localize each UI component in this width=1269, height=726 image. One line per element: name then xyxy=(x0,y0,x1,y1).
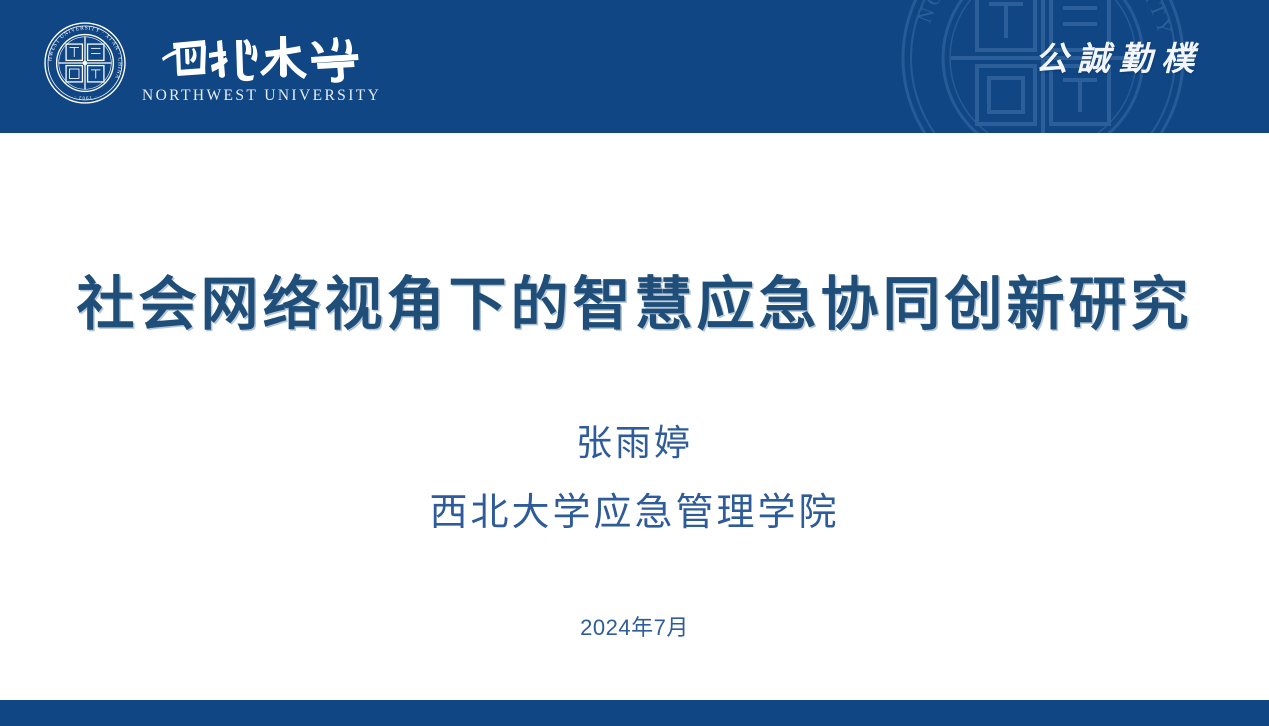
author-affiliation: 西北大学应急管理学院 xyxy=(0,493,1269,535)
logo-english-name: NORTHWEST UNIVERSITY xyxy=(142,88,381,104)
svg-text:NORTHWEST UNIVERSITY: NORTHWEST UNIVERSITY xyxy=(914,0,1177,40)
northwest-university-seal-icon: NORTHWEST UNIVERSITY · XI'AN · CHINA · 1… xyxy=(42,20,128,106)
header-band: NORTHWEST UNIVERSITY · 1902 · xyxy=(0,0,1269,133)
university-logo-lockup: NORTHWEST UNIVERSITY · XI'AN · CHINA · 1… xyxy=(42,20,381,106)
presentation-title: 社会网络视角下的智慧应急协同创新研究 xyxy=(0,273,1269,338)
author-name: 张雨婷 xyxy=(0,424,1269,464)
svg-text:· 1902 ·: · 1902 · xyxy=(73,93,97,100)
title-slide: NORTHWEST UNIVERSITY · 1902 · xyxy=(0,0,1269,726)
chinese-wordmark-icon xyxy=(159,27,364,85)
footer-band xyxy=(0,700,1269,726)
logo-wordmark: NORTHWEST UNIVERSITY xyxy=(142,23,381,104)
university-motto: 公誠勤樸 xyxy=(1035,44,1203,77)
slide-body: 社会网络视角下的智慧应急协同创新研究 张雨婷 西北大学应急管理学院 2024年7… xyxy=(0,133,1269,700)
presentation-date: 2024年7月 xyxy=(0,616,1269,640)
